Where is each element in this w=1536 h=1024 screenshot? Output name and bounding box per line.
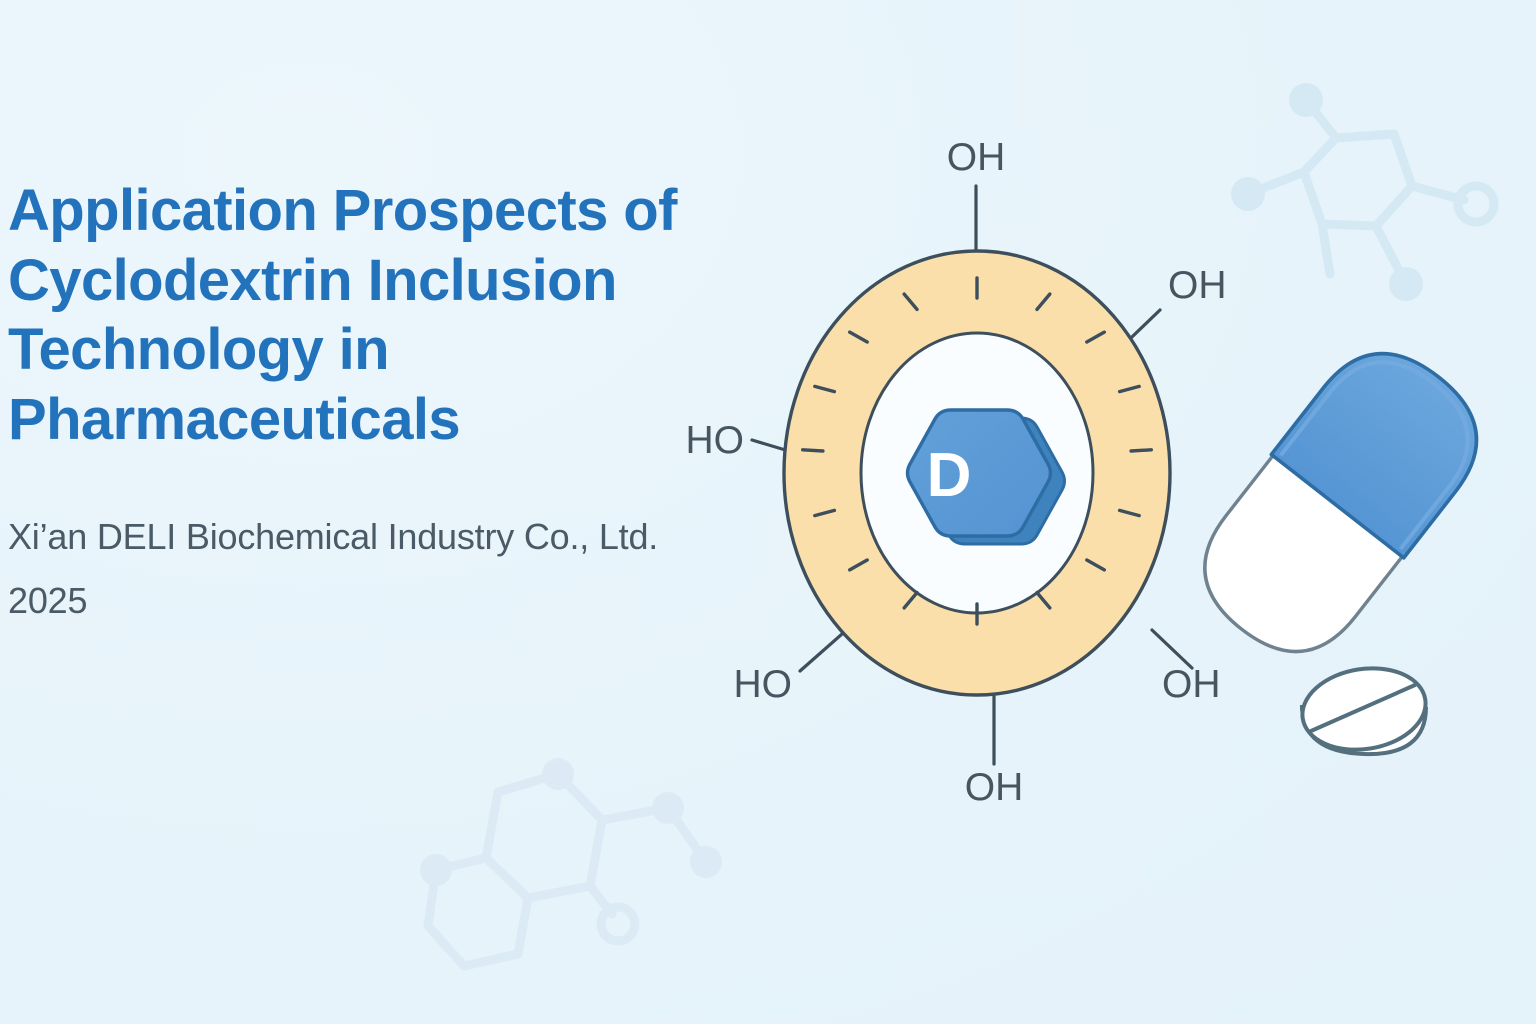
hydroxyl-label-bottom: OH [965, 766, 1024, 809]
cyclodextrin-ring-group: D OH OH HO HO OH OH [686, 136, 1227, 809]
capsule-group [1175, 325, 1504, 681]
hydroxyl-label-upper-right: OH [1168, 264, 1227, 307]
guest-molecule-label: D [927, 441, 972, 510]
slide-canvas: Application Prospects of Cyclodextrin In… [0, 0, 1536, 1024]
hydroxyl-label-top: OH [947, 136, 1006, 179]
leader-line-lower-left [800, 634, 842, 671]
hydroxyl-label-lower-left: HO [734, 663, 793, 706]
illustration-group: D OH OH HO HO OH OH [0, 0, 1536, 1024]
hydroxyl-label-lower-right: OH [1162, 663, 1221, 706]
tablet-group [1297, 660, 1432, 758]
hydroxyl-label-left: HO [686, 419, 745, 462]
